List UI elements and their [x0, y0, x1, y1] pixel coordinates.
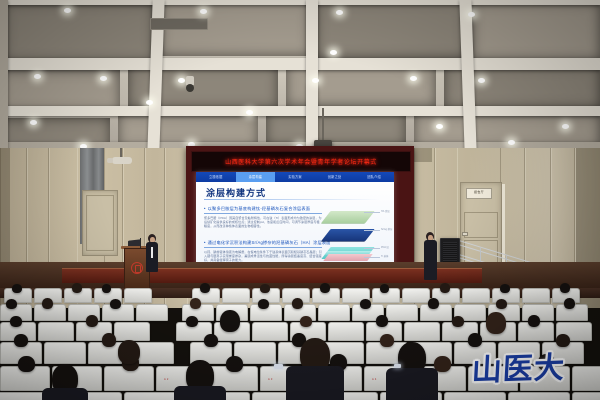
seat[interactable] [522, 288, 550, 303]
audience-head [118, 340, 140, 364]
bullet-2-body: 以钙、磷前驱体溶液为电解质，在恒电位条件下于钛基体表面沉积羟基磷灰石晶层；引入锶… [204, 250, 322, 263]
seat[interactable] [462, 288, 490, 303]
seat-label: A 2 [164, 378, 169, 381]
diagram-callout-2: PDA 层 [381, 245, 389, 249]
diagram-callout-3: Ti 基体 [381, 254, 388, 258]
seat[interactable] [38, 322, 74, 341]
slide-bullet-2: 通过电化学沉积法构建Sr/Ag掺杂的羟基磷灰石（HA）涂层表面 以钙、磷前驱体溶… [204, 240, 322, 263]
seat[interactable] [318, 304, 350, 321]
seat[interactable] [222, 288, 250, 303]
seat-label: A 4 [372, 378, 377, 381]
seat[interactable] [444, 392, 506, 400]
seat[interactable] [402, 288, 430, 303]
seat-label: A 3 [268, 378, 273, 381]
room-sign: 报告厅 [466, 188, 492, 199]
seat[interactable] [124, 288, 152, 303]
audience-head [220, 310, 240, 332]
slide-tab-4[interactable]: 团队介绍 [354, 172, 394, 182]
slide-tab-3[interactable]: 创新之处 [315, 172, 355, 182]
audience-head [486, 312, 506, 334]
slide-tab-2[interactable]: 实验方案 [275, 172, 315, 182]
lecture-hall-photo: 报告厅 山西医科大学第六次学术年会暨青年学者论坛开幕式 立题依据 涂层构建 实验… [0, 0, 600, 400]
bullet-2-heading: 通过电化学沉积法构建Sr/Ag掺杂的羟基磷灰石（HA）涂层表面 [204, 240, 322, 248]
projector-mount [322, 108, 324, 144]
seat[interactable] [508, 392, 570, 400]
diagram-callout-0: HA 涂层 [381, 209, 390, 213]
door-light-gap [502, 184, 505, 262]
slide-title: 涂层构建方式 [206, 186, 266, 199]
slide-tab-0[interactable]: 立题依据 [196, 172, 236, 182]
bullet-1-body: 聚多巴胺（PDA）因其自聚合及黏附特性，可在钛（Ti）表面形成均匀致密的涂层，为… [204, 216, 322, 229]
led-banner-text: 山西医科大学第六次学术年会暨青年学者论坛开幕式 [225, 157, 377, 166]
led-banner: 山西医科大学第六次学术年会暨青年学者论坛开幕式 [191, 151, 411, 172]
attendee-phone [274, 364, 283, 369]
attendee-phone [394, 364, 401, 368]
door-handle[interactable] [462, 232, 468, 236]
room-sign-text: 报告厅 [467, 189, 491, 195]
seat[interactable] [136, 304, 168, 321]
seat[interactable] [328, 322, 364, 341]
podium-emblem [131, 262, 143, 274]
seat[interactable] [386, 304, 418, 321]
diagram-callout-1: Sr/Ag 掺杂 [381, 227, 392, 231]
podium-microphone [140, 238, 141, 248]
diagram-layer-base-side [323, 254, 372, 261]
diagram-layer-middle [321, 229, 374, 241]
coffered-ceiling [0, 0, 600, 152]
seat[interactable] [44, 342, 86, 364]
seat[interactable] [572, 366, 600, 391]
ceiling-projector-left [112, 157, 132, 164]
seat[interactable] [252, 322, 288, 341]
seat[interactable] [114, 322, 150, 341]
slide-bullet-1: 以聚多巴胺层为基底构建钛-羟基磷灰石复合涂层表面 聚多巴胺（PDA）因其自聚合及… [204, 206, 322, 229]
slide-nav-bar: 立题依据 涂层构建 实验方案 创新之处 团队介绍 [196, 172, 394, 182]
seat[interactable] [572, 392, 600, 400]
university-watermark: 山医大 [471, 342, 567, 389]
title-divider [204, 199, 380, 200]
slide-tab-1[interactable]: 涂层构建 [236, 172, 276, 182]
bullet-1-heading: 以聚多巴胺层为基底构建钛-羟基磷灰石复合涂层表面 [204, 206, 322, 214]
diagram-layer-top [321, 211, 374, 223]
seat[interactable] [404, 322, 440, 341]
layer-stack-diagram: HA 涂层 Sr/Ag 掺杂 PDA 层 Ti 基体 [324, 204, 386, 266]
security-camera-icon [186, 76, 194, 85]
air-vent [150, 18, 208, 30]
